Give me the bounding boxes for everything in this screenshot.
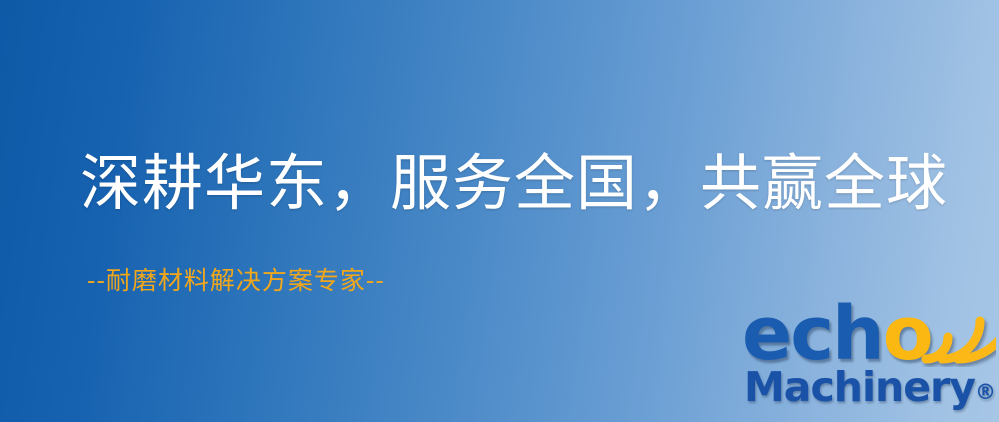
logo-wordmark: echo	[742, 297, 932, 371]
banner-headline: 深耕华东，服务全国，共赢全球	[80, 153, 948, 214]
logo-tagline-text: Machinery	[744, 363, 975, 411]
hero-banner: 深耕华东，服务全国，共赢全球 --耐磨材料解决方案专家-- echo Machi…	[0, 0, 999, 422]
echo-machinery-logo[interactable]: echo Machinery®	[742, 297, 994, 419]
banner-subheadline: --耐磨材料解决方案专家--	[87, 268, 385, 293]
registered-trademark-icon: ®	[975, 380, 996, 404]
signal-waves-icon	[918, 293, 996, 367]
logo-tagline: Machinery®	[744, 367, 996, 408]
